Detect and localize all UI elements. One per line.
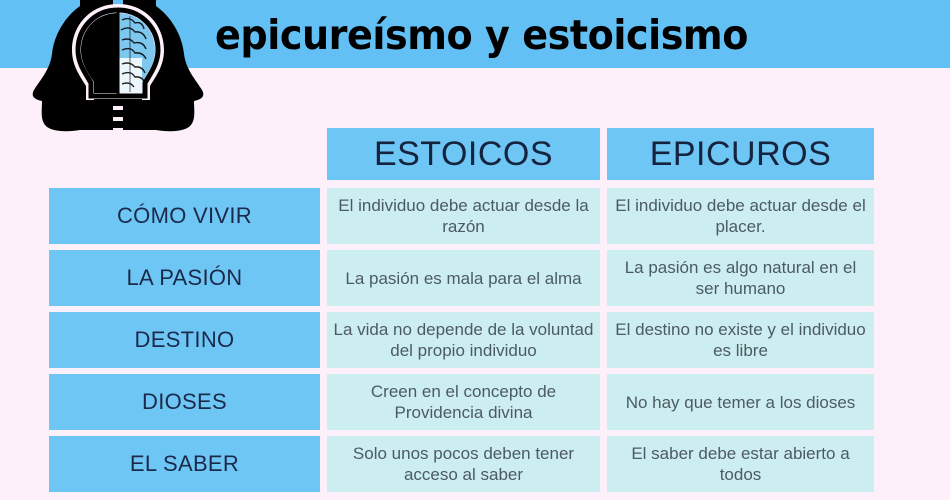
cell-estoicos-el-saber: Solo unos pocos deben tener acceso al sa… <box>327 436 600 492</box>
cell-epicuros-como-vivir: El individuo debe actuar desde el placer… <box>607 188 874 244</box>
cell-text: La pasión es mala para el alma <box>331 268 596 289</box>
cell-text: Creen en el concepto de Providencia divi… <box>331 381 596 423</box>
row-label-el-saber: EL SABER <box>49 436 320 492</box>
cell-epicuros-el-saber: El saber debe estar abierto a todos <box>607 436 874 492</box>
column-header-estoicos-label: ESTOICOS <box>327 135 600 174</box>
table-row: LA PASIÓN La pasión es mala para el alma… <box>0 250 950 306</box>
cell-estoicos-destino: La vida no depende de la voluntad del pr… <box>327 312 600 368</box>
row-label-dioses: DIOSES <box>49 374 320 430</box>
cell-estoicos-dioses: Creen en el concepto de Providencia divi… <box>327 374 600 430</box>
row-label-text: EL SABER <box>49 451 320 477</box>
cell-estoicos-como-vivir: El individuo debe actuar desde la razón <box>327 188 600 244</box>
cell-epicuros-la-pasion: La pasión es algo natural en el ser huma… <box>607 250 874 306</box>
cell-text: El individuo debe actuar desde el placer… <box>611 195 870 237</box>
table-corner-cell <box>49 128 320 180</box>
row-label-la-pasion: LA PASIÓN <box>49 250 320 306</box>
row-label-como-vivir: CÓMO VIVIR <box>49 188 320 244</box>
cell-estoicos-la-pasion: La pasión es mala para el alma <box>327 250 600 306</box>
row-label-text: CÓMO VIVIR <box>49 203 320 229</box>
column-header-estoicos: ESTOICOS <box>327 128 600 180</box>
table-row: DESTINO La vida no depende de la volunta… <box>0 312 950 368</box>
cell-epicuros-dioses: No hay que temer a los dioses <box>607 374 874 430</box>
table-row: EL SABER Solo unos pocos deben tener acc… <box>0 436 950 492</box>
comparison-table: ESTOICOS EPICUROS CÓMO VIVIR El individu… <box>0 128 950 498</box>
row-label-destino: DESTINO <box>49 312 320 368</box>
cell-text: El saber debe estar abierto a todos <box>611 443 870 485</box>
cell-text: El individuo debe actuar desde la razón <box>331 195 596 237</box>
cell-text: Solo unos pocos deben tener acceso al sa… <box>331 443 596 485</box>
table-row: DIOSES Creen en el concepto de Providenc… <box>0 374 950 430</box>
table-row: CÓMO VIVIR El individuo debe actuar desd… <box>0 188 950 244</box>
brain-lightbulb-heads-logo <box>18 0 218 140</box>
column-header-epicuros: EPICUROS <box>607 128 874 180</box>
cell-text: La pasión es algo natural en el ser huma… <box>611 257 870 299</box>
cell-text: No hay que temer a los dioses <box>611 392 870 413</box>
cell-text: El destino no existe y el individuo es l… <box>611 319 870 361</box>
cell-text: La vida no depende de la voluntad del pr… <box>331 319 596 361</box>
page-title: epicureísmo y estoicismo <box>215 7 866 63</box>
row-label-text: LA PASIÓN <box>49 265 320 291</box>
table-header-row: ESTOICOS EPICUROS <box>0 128 950 180</box>
cell-epicuros-destino: El destino no existe y el individuo es l… <box>607 312 874 368</box>
row-label-text: DIOSES <box>49 389 320 415</box>
column-header-epicuros-label: EPICUROS <box>607 135 874 174</box>
row-label-text: DESTINO <box>49 327 320 353</box>
